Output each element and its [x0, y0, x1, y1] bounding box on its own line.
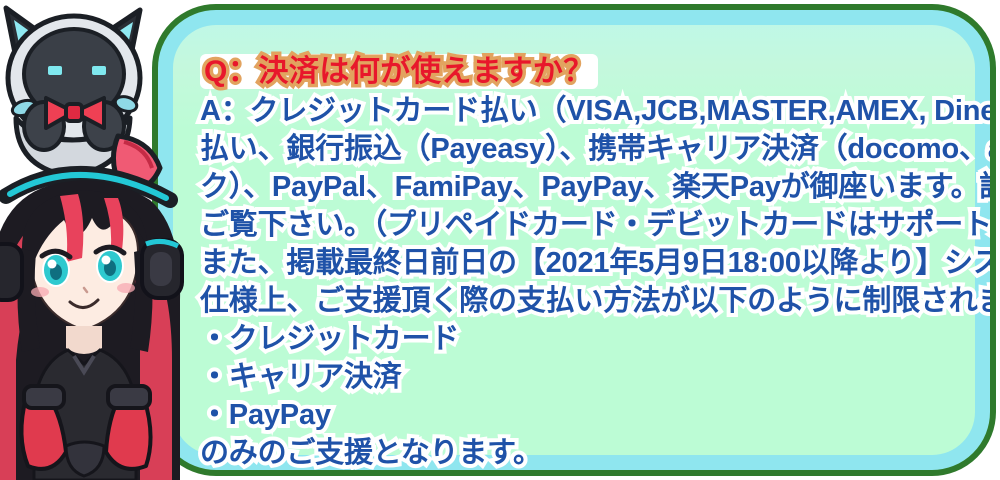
answer-line: また、掲載最終日前日の【2021年5月9日18:00以降より】システムの [200, 244, 970, 282]
anime-girl-avatar [0, 180, 182, 480]
glove-right [106, 386, 151, 469]
bubble-content: Q：決済は何が使えますか？ A：クレジットカード払い（VISA,JCB,MAST… [158, 10, 990, 470]
answer-line: 払い、銀行振込（Payeasy）、携帯キャリア決済（docomo、au、ソフトバ… [200, 130, 970, 168]
robot-eye-right [92, 66, 106, 75]
robot-cat-mascot [6, 8, 160, 189]
answer-line: 仕様上、ご支援頂く際の支払い方法が以下のように制限されます。 [200, 282, 970, 320]
answer-body: A：クレジットカード払い（VISA,JCB,MASTER,AMEX, Diner… [200, 92, 970, 472]
glove-left [21, 386, 66, 469]
robot-eye-left [48, 66, 62, 75]
question-heading: Q：決済は何が使えますか？ [200, 46, 598, 90]
headphone-cup-left [0, 244, 22, 300]
answer-line: ク）、PayPal、FamiPay、PayPay、楽天Payが御座います。詳細は… [200, 168, 970, 206]
character-illustration-group [0, 0, 200, 480]
answer-bullet-item: ・クレジットカード [200, 320, 970, 358]
answer-bullet-item: ・PayPay [200, 396, 970, 434]
answer-line: A：クレジットカード払い（VISA,JCB,MASTER,AMEX, Diner… [200, 92, 970, 130]
answer-line: のみのご支援となります。 [200, 434, 970, 472]
faq-speech-bubble: Q：決済は何が使えますか？ A：クレジットカード払い（VISA,JCB,MAST… [152, 4, 996, 476]
answer-line: ご覧下さい。（プリペイドカード・デビットカードはサポート外となります。） [200, 206, 970, 244]
question-text: Q：決済は何が使えますか？ [200, 54, 598, 89]
headphone-cup-right [142, 240, 182, 298]
answer-bullet-item: ・キャリア決済 [200, 358, 970, 396]
